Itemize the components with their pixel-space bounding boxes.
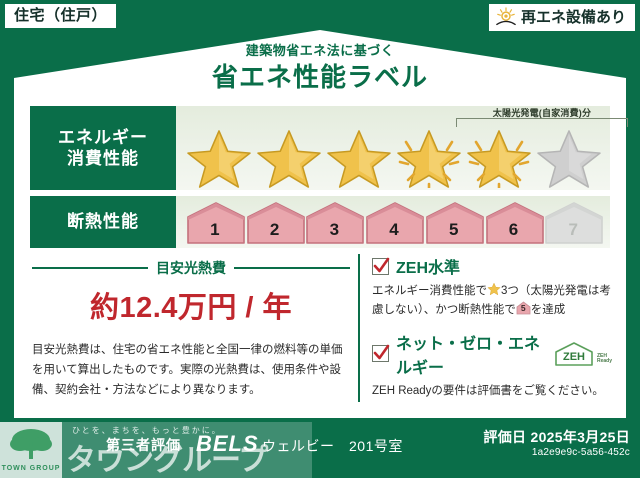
svg-text:ZEH: ZEH — [563, 351, 585, 363]
insulation-level-on: 3 — [305, 201, 363, 245]
vertical-divider — [358, 254, 360, 402]
zeh-logo-icon: ZEH ZEH Ready — [553, 341, 612, 367]
zeh-desc-part3: を達成 — [531, 304, 566, 316]
utility-cost-note: 目安光熱費は、住宅の省エネ性能と全国一律の燃料等の単価を用いて算出したものです。… — [32, 340, 350, 400]
evaluation-id: 1a2e9e9c-5a56-452c — [532, 447, 630, 458]
zeh-netzero-description: ZEH Readyの要件は評価書をご覧ください。 — [372, 382, 612, 401]
energy-label-line1: エネルギー — [58, 127, 148, 148]
zeh-netzero-title-text: ネット・ゼロ・エネルギー — [396, 330, 546, 378]
star-filled — [464, 128, 534, 188]
insulation-level-scale: 1234567 — [186, 200, 602, 246]
page-title: 省エネ性能ラベル — [0, 57, 640, 94]
star-rating — [184, 128, 604, 188]
energy-performance-row: エネルギー 消費性能 太陽光発電(自家消費)分 — [30, 106, 610, 190]
insulation-label-text: 断熱性能 — [67, 211, 139, 232]
insulation-level-on: 6 — [485, 201, 543, 245]
zeh-section: ZEH水準 エネルギー消費性能で3つ（太陽光発電は考慮しない）、かつ断熱性能で5… — [372, 254, 612, 411]
insulation-level-on: 1 — [186, 201, 244, 245]
star-empty — [534, 128, 604, 188]
zeh-netzero-block: ネット・ゼロ・エネルギー ZEH ZEH Ready ZEH Readyの要件は… — [372, 330, 612, 401]
dwelling-type-tag: 住宅（住戸） — [5, 4, 116, 28]
insulation-level-value: 1 — [210, 220, 219, 245]
zeh-standard-block: ZEH水準 エネルギー消費性能で3つ（太陽光発電は考慮しない）、かつ断熱性能で5… — [372, 254, 612, 320]
star-icon — [487, 282, 501, 295]
zeh-standard-description: エネルギー消費性能で3つ（太陽光発電は考慮しない）、かつ断熱性能で5を達成 — [372, 282, 612, 320]
rule-left — [32, 267, 148, 269]
check-icon — [372, 345, 389, 362]
energy-label-root: 住宅（住戸） 再エネ設備あり 建築物省エネ法に基づく 省エネ性能ラベル — [0, 0, 640, 478]
star-filled — [254, 128, 324, 188]
utility-cost-section: 目安光熱費 約12.4万円 / 年 目安光熱費は、住宅の省エネ性能と全国一律の燃… — [32, 258, 350, 400]
zeh-ready-sublabel: ZEH Ready — [597, 354, 612, 367]
insulation-level-value: 7 — [568, 220, 577, 245]
insulation-level-on: 5 — [425, 201, 483, 245]
utility-cost-heading: 目安光熱費 — [32, 258, 350, 278]
zeh-standard-title: ZEH水準 — [372, 254, 612, 278]
bels-logo-text: BELS — [196, 431, 259, 457]
insulation-level-on: 2 — [246, 201, 304, 245]
energy-performance-label: エネルギー 消費性能 — [30, 106, 176, 190]
sun-icon — [495, 7, 517, 27]
insulation-chip-icon: 5 — [516, 301, 531, 315]
insulation-level-on: 4 — [365, 201, 423, 245]
star-filled — [324, 128, 394, 188]
renewable-tag-label: 再エネ設備あり — [521, 10, 626, 25]
renewable-equipment-tag: 再エネ設備あり — [489, 4, 635, 31]
property-name: ウェルビー 201号室 — [262, 436, 403, 456]
insulation-level-value: 6 — [509, 220, 518, 245]
energy-label-line2: 消費性能 — [67, 148, 139, 169]
third-party-evaluation-label: 第三者評価 — [106, 435, 181, 455]
insulation-level-off: 7 — [544, 201, 602, 245]
rule-right — [234, 267, 350, 269]
utility-cost-value: 約12.4万円 / 年 — [32, 284, 350, 326]
check-icon — [372, 258, 389, 275]
footer-bar: 第三者評価 BELS ウェルビー 201号室 評価日 2025年3月25日 1a… — [0, 418, 640, 478]
insulation-chip-value: 5 — [516, 301, 531, 315]
zeh-netzero-title: ネット・ゼロ・エネルギー ZEH ZEH Ready — [372, 330, 612, 378]
insulation-performance-body: 1234567 — [176, 196, 610, 248]
star-filled — [184, 128, 254, 188]
evaluation-date: 評価日 2025年3月25日 — [483, 427, 630, 447]
utility-cost-heading-text: 目安光熱費 — [156, 258, 226, 278]
zeh-logo-sub2: Ready — [597, 358, 612, 364]
insulation-level-value: 5 — [449, 220, 458, 245]
insulation-level-value: 4 — [389, 220, 398, 245]
energy-performance-body: 太陽光発電(自家消費)分 — [176, 106, 610, 190]
label-panel: エネルギー 消費性能 太陽光発電(自家消費)分 断熱性能 1234567 目安光… — [14, 96, 626, 418]
zeh-standard-title-text: ZEH水準 — [396, 254, 460, 278]
insulation-level-value: 2 — [270, 220, 279, 245]
insulation-performance-label: 断熱性能 — [30, 196, 176, 248]
zeh-desc-part1: エネルギー消費性能で — [372, 285, 487, 297]
insulation-performance-row: 断熱性能 1234567 — [30, 196, 610, 248]
insulation-level-value: 3 — [330, 220, 339, 245]
star-filled — [394, 128, 464, 188]
